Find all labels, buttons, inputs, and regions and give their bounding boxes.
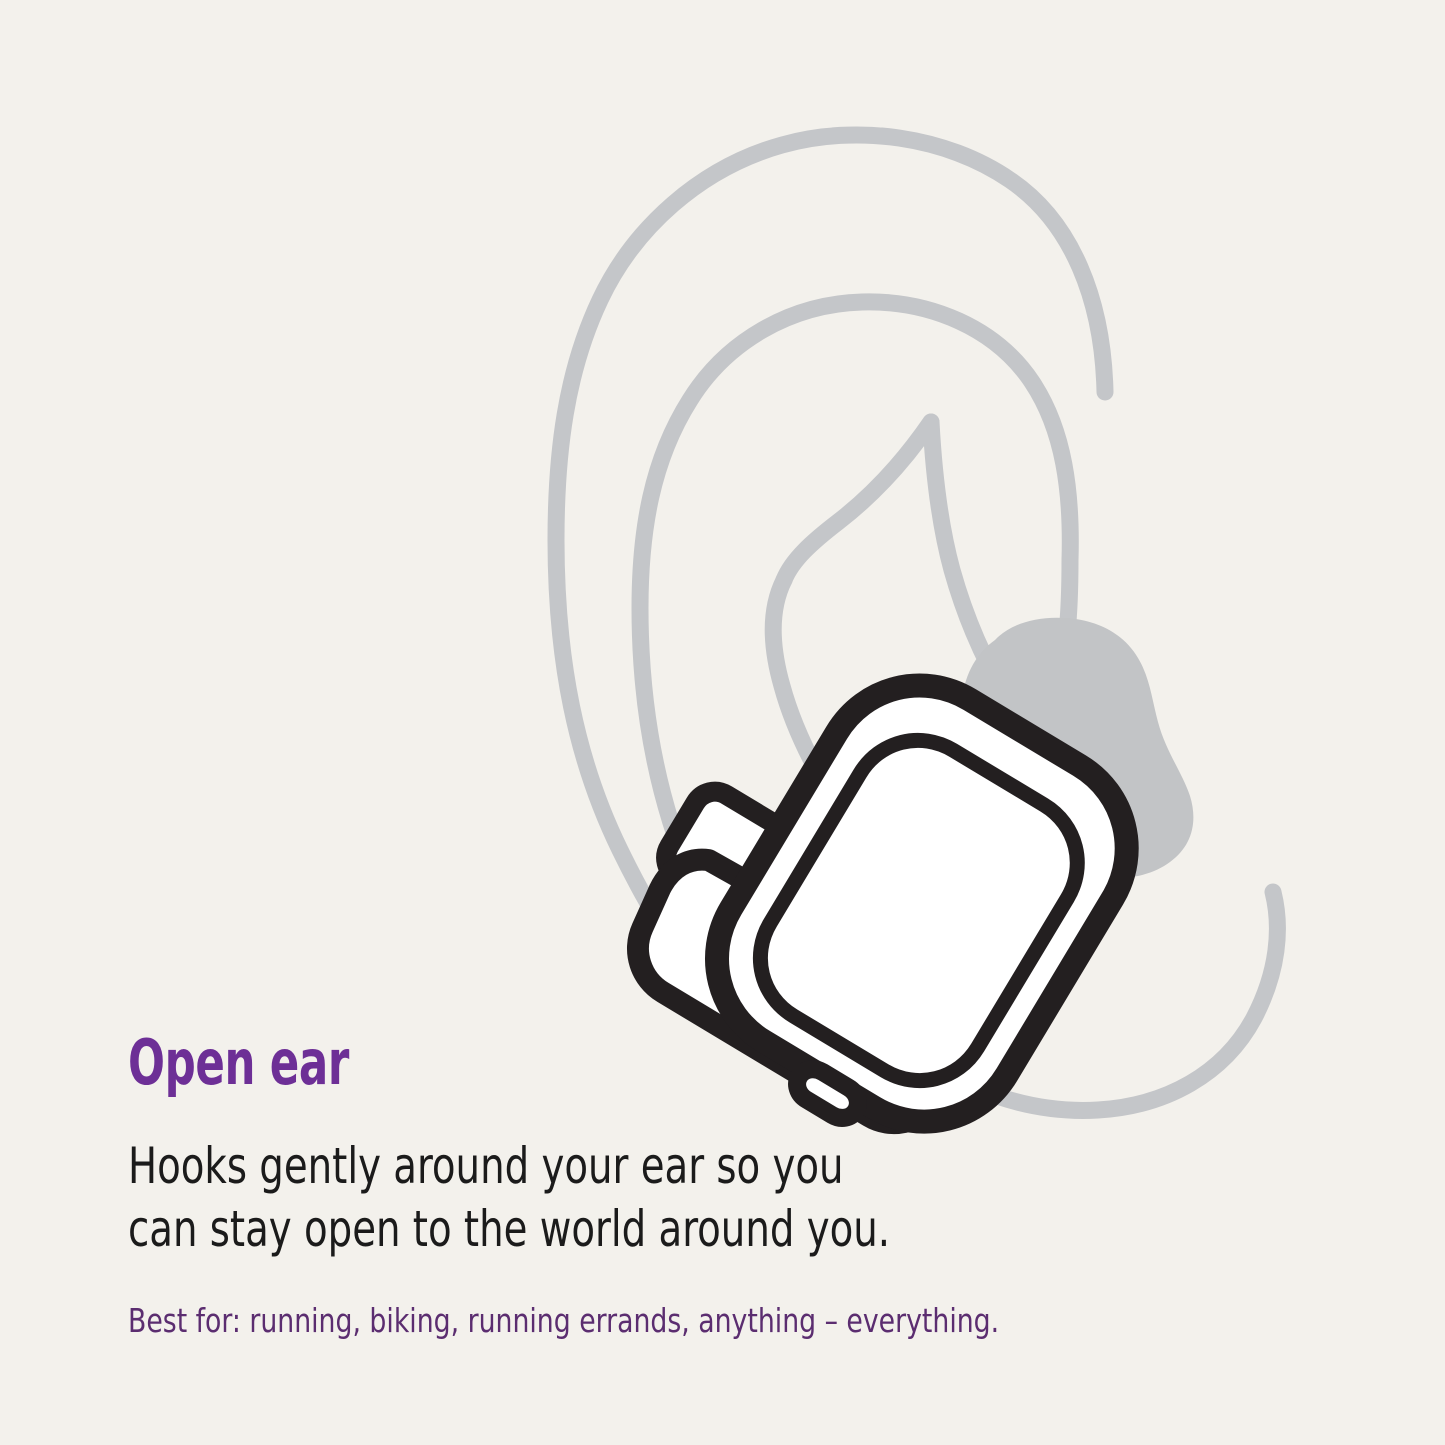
copy-block: Open ear Hooks gently around your ear so…	[128, 1032, 1228, 1341]
body-line-1: Hooks gently around your ear so you	[128, 1135, 1074, 1198]
best-for-caption: Best for: running, biking, running erran…	[128, 1261, 1118, 1341]
open-ear-product-card: Open ear Hooks gently around your ear so…	[0, 0, 1445, 1445]
body-description: Hooks gently around your ear so you can …	[128, 1094, 1074, 1261]
body-line-2: can stay open to the world around you.	[128, 1198, 1074, 1261]
antihelix-fork-upper	[784, 422, 931, 580]
page-title: Open ear	[128, 1032, 986, 1094]
